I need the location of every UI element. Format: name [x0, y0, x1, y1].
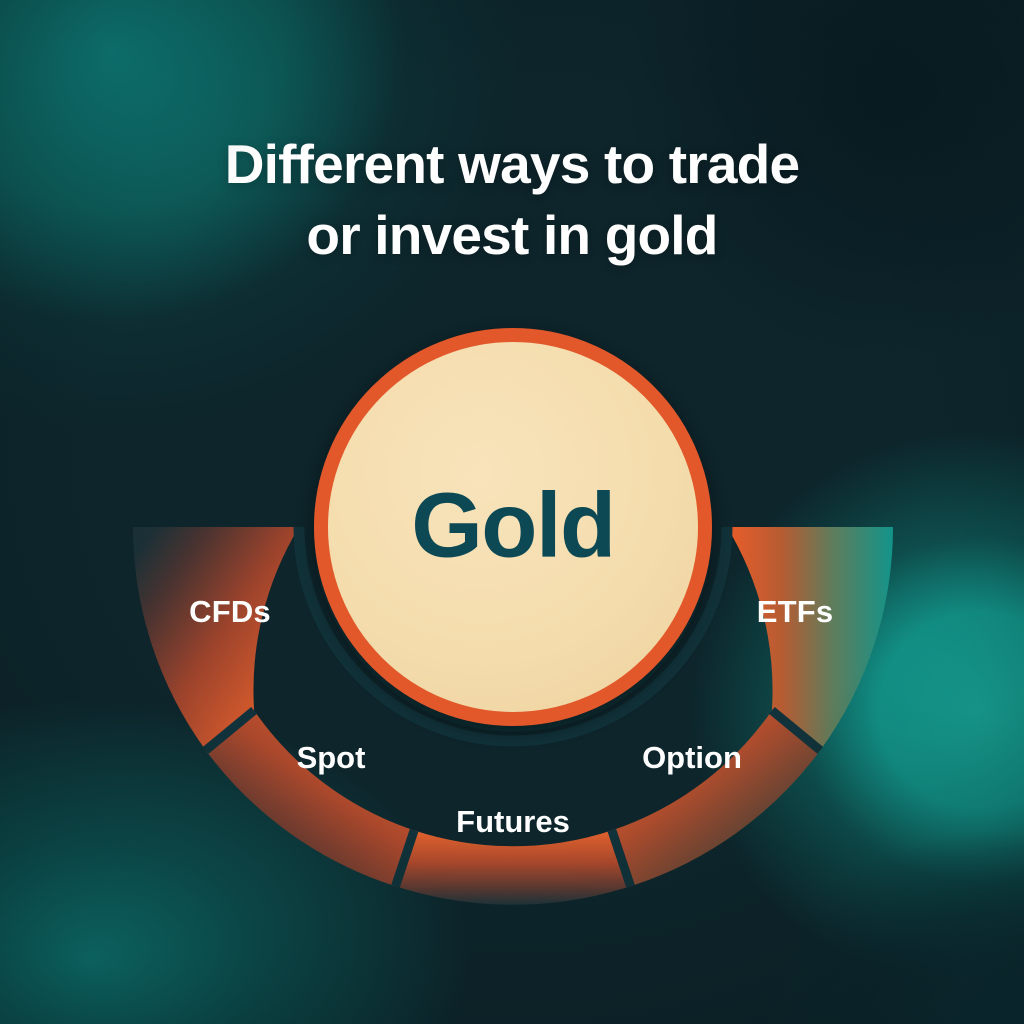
segment-cfds[interactable]: CFDs [133, 527, 299, 750]
segment-spot-wedge[interactable] [206, 710, 414, 886]
segment-etfs-wedge[interactable] [727, 527, 893, 750]
segment-futures[interactable]: Futures [396, 804, 631, 905]
segment-cfds-wedge[interactable] [133, 527, 299, 750]
segment-option[interactable]: Option [612, 710, 820, 886]
segment-cfds-label: CFDs [189, 594, 271, 629]
segment-option-wedge[interactable] [612, 710, 820, 886]
segment-futures-wedge[interactable] [396, 830, 631, 904]
segment-etfs[interactable]: ETFs [727, 527, 893, 750]
segment-spot[interactable]: Spot [206, 710, 414, 886]
segment-spot-label: Spot [297, 740, 366, 775]
segment-etfs-label: ETFs [757, 594, 834, 629]
hub-label: Gold [411, 474, 615, 576]
segment-option-label: Option [642, 740, 742, 775]
segment-futures-label: Futures [456, 804, 570, 839]
infographic-canvas: Different ways to trade or invest in gol… [0, 0, 1024, 1024]
gold-trading-methods-diagram: CFDs Spot Futures Option ETFs [0, 0, 1024, 1024]
gold-hub[interactable]: Gold [321, 335, 705, 719]
